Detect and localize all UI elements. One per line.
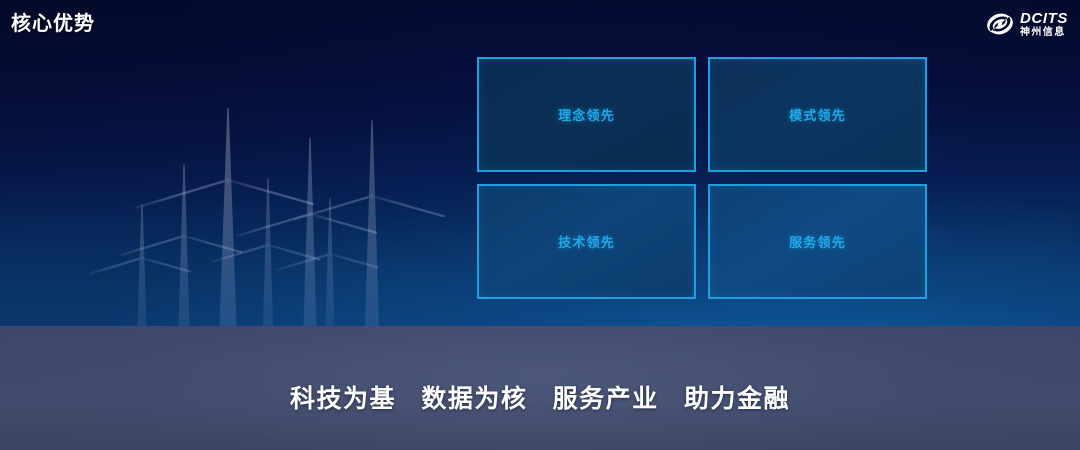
advantage-card-label: 服务领先 bbox=[789, 232, 846, 251]
logo-wordmark: DCITS 神州信息 bbox=[1020, 11, 1068, 38]
advantage-card-label: 理念领先 bbox=[558, 105, 615, 124]
advantage-card-service[interactable]: 服务领先 bbox=[708, 184, 927, 299]
logo-en-text: DCITS bbox=[1020, 11, 1068, 26]
advantage-card-grid: 理念领先 模式领先 技术领先 服务领先 bbox=[477, 57, 927, 299]
footer-tagline: 科技为基 数据为核 服务产业 助力金融 bbox=[0, 382, 1080, 416]
slide-core-advantages: 核心优势 DCITS 神州信息 理念领先 模式领先 技术领先 服务领先 bbox=[0, 0, 1080, 450]
brand-logo: DCITS 神州信息 bbox=[985, 9, 1068, 39]
logo-cn-text: 神州信息 bbox=[1020, 28, 1068, 38]
advantage-card-label: 技术领先 bbox=[558, 232, 615, 251]
advantage-card-concept[interactable]: 理念领先 bbox=[477, 57, 696, 172]
page-title: 核心优势 bbox=[11, 11, 95, 37]
advantage-card-technology[interactable]: 技术领先 bbox=[477, 184, 696, 299]
advantage-card-model[interactable]: 模式领先 bbox=[708, 57, 927, 172]
dcits-galaxy-swoosh-icon bbox=[985, 11, 1015, 37]
advantage-card-label: 模式领先 bbox=[789, 105, 846, 124]
